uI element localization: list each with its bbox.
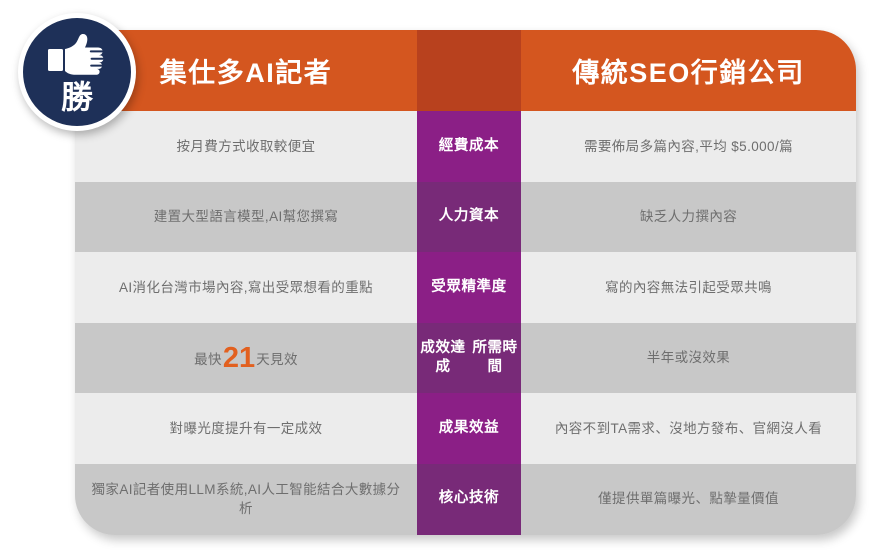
cell-right: 缺乏人力撰內容 xyxy=(521,182,856,253)
table-row: 按月費方式收取較便宜 經費成本 需要佈局多篇內容,平均 $5.000/篇 xyxy=(75,111,856,182)
cell-left: 建置大型語言模型,AI幫您撰寫 xyxy=(75,182,417,253)
cell-left: 獨家AI記者使用LLM系統,AI人工智能結合大數據分析 xyxy=(75,464,417,535)
cell-left: 按月費方式收取較便宜 xyxy=(75,111,417,182)
cell-criterion: 受眾精準度 xyxy=(417,252,521,323)
criterion-line-1: 成效達成 xyxy=(417,339,469,378)
cell-criterion: 人力資本 xyxy=(417,182,521,253)
cell-left: 最快21天見效 xyxy=(75,323,417,394)
table-header-row: 集仕多AI記者 傳統SEO行銷公司 xyxy=(75,30,856,111)
win-badge: 勝 xyxy=(18,13,136,131)
highlight-phrase: 最快21天見效 xyxy=(194,337,298,379)
header-title-right: 傳統SEO行銷公司 xyxy=(572,51,805,90)
header-cell-right: 傳統SEO行銷公司 xyxy=(521,30,856,111)
comparison-table-canvas: 集仕多AI記者 傳統SEO行銷公司 按月費方式收取較便宜 經費成本 需要佈局多篇… xyxy=(0,0,880,550)
cell-right: 需要佈局多篇內容,平均 $5.000/篇 xyxy=(521,111,856,182)
table-row: 對曝光度提升有一定成效 成果效益 內容不到TA需求、沒地方發布、官網沒人看 xyxy=(75,393,856,464)
cell-criterion: 成果效益 xyxy=(417,393,521,464)
cell-left: AI消化台灣市場內容,寫出受眾想看的重點 xyxy=(75,252,417,323)
highlight-number: 21 xyxy=(222,342,256,374)
cell-criterion: 經費成本 xyxy=(417,111,521,182)
cell-right: 內容不到TA需求、沒地方發布、官網沒人看 xyxy=(521,393,856,464)
table-body: 按月費方式收取較便宜 經費成本 需要佈局多篇內容,平均 $5.000/篇 建置大… xyxy=(75,111,856,535)
criterion-line-2: 所需時間 xyxy=(469,339,521,378)
comparison-card: 集仕多AI記者 傳統SEO行銷公司 按月費方式收取較便宜 經費成本 需要佈局多篇… xyxy=(75,30,856,535)
cell-right: 僅提供單篇曝光、點摯量價值 xyxy=(521,464,856,535)
cell-right: 半年或沒效果 xyxy=(521,323,856,394)
cell-right: 寫的內容無法引起受眾共鳴 xyxy=(521,252,856,323)
cell-criterion: 核心技術 xyxy=(417,464,521,535)
table-row: 最快21天見效 成效達成 所需時間 半年或沒效果 xyxy=(75,323,856,394)
highlight-prefix: 最快 xyxy=(194,352,222,367)
badge-label: 勝 xyxy=(61,81,93,113)
table-row: 獨家AI記者使用LLM系統,AI人工智能結合大數據分析 核心技術 僅提供單篇曝光… xyxy=(75,464,856,535)
header-title-left: 集仕多AI記者 xyxy=(160,51,333,90)
table-row: 建置大型語言模型,AI幫您撰寫 人力資本 缺乏人力撰內容 xyxy=(75,182,856,253)
table-row: AI消化台灣市場內容,寫出受眾想看的重點 受眾精準度 寫的內容無法引起受眾共鳴 xyxy=(75,252,856,323)
highlight-suffix: 天見效 xyxy=(256,352,298,367)
cell-left: 對曝光度提升有一定成效 xyxy=(75,393,417,464)
thumbs-up-icon xyxy=(46,32,108,80)
header-cell-middle xyxy=(417,30,521,111)
cell-criterion: 成效達成 所需時間 xyxy=(417,323,521,394)
